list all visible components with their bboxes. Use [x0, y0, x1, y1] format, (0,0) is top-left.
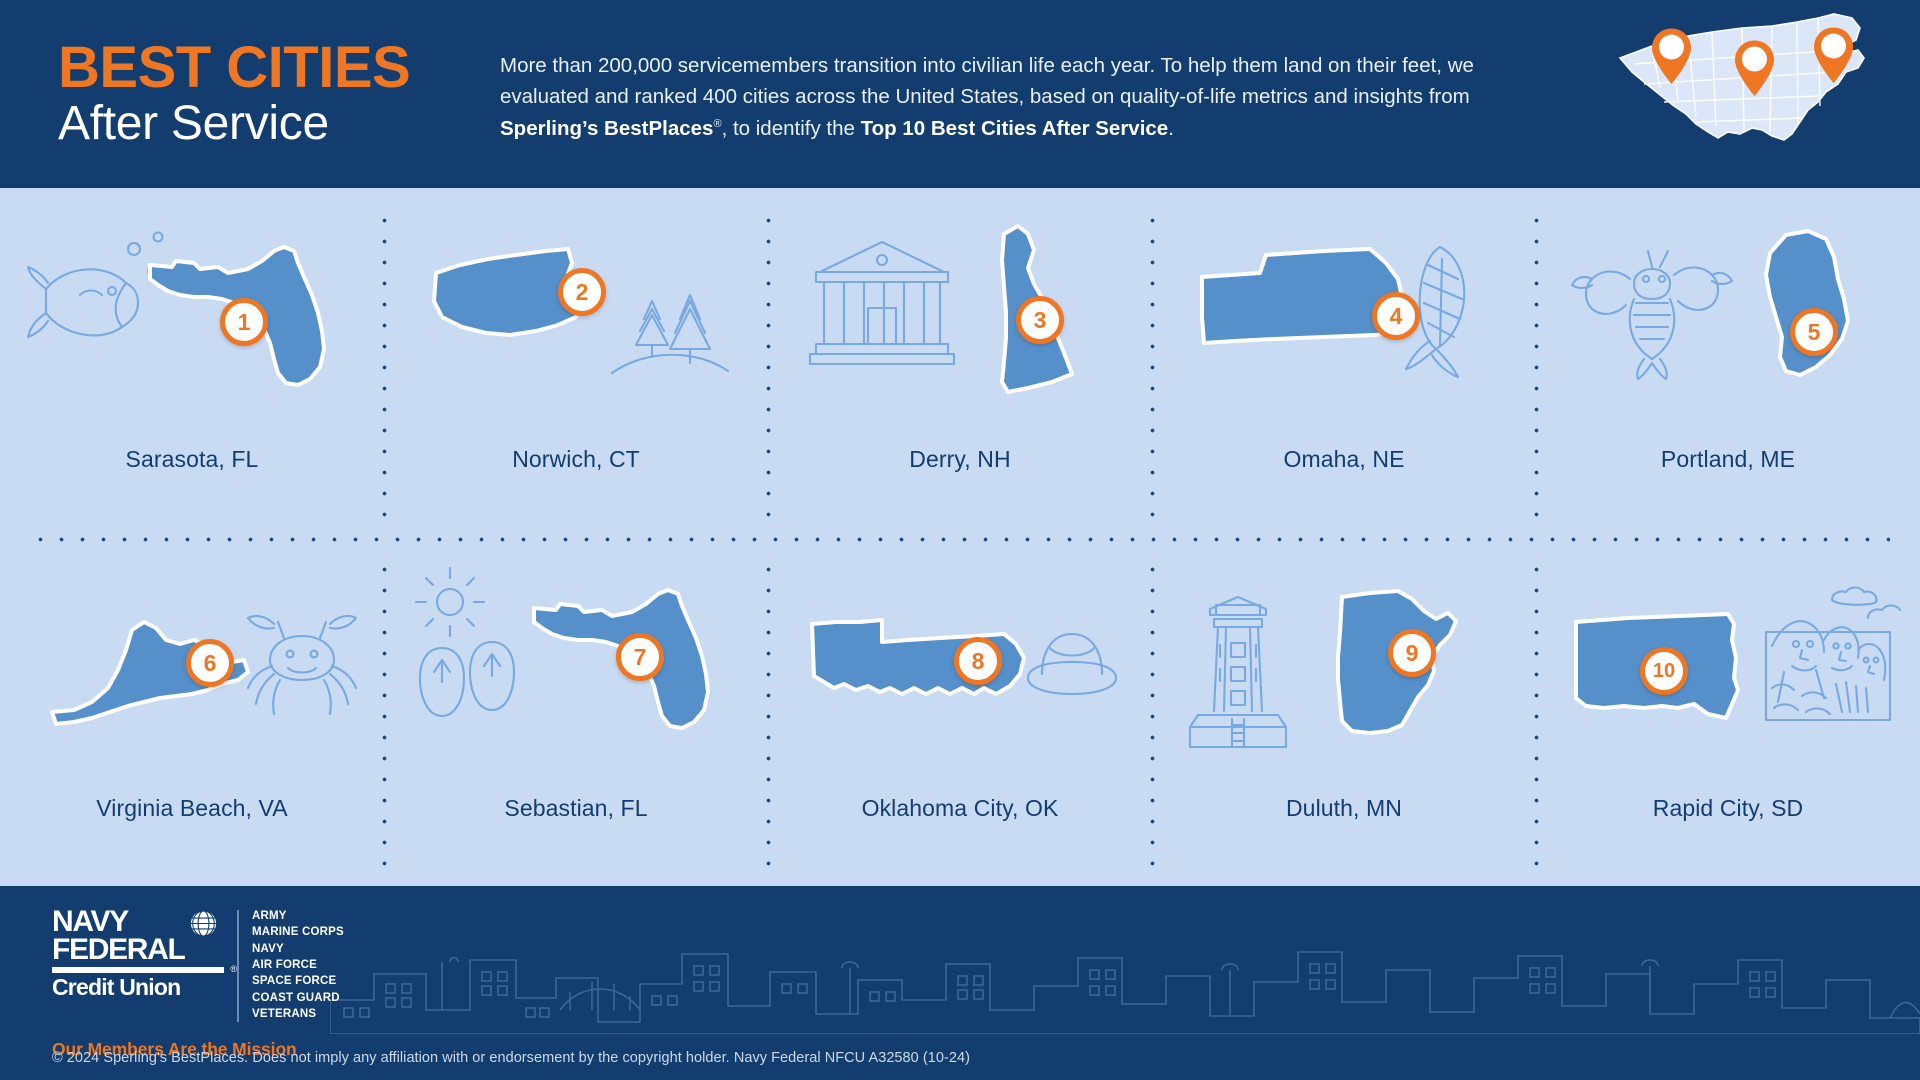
- logo-federal: FEDERAL: [52, 936, 185, 964]
- city-label-9: Duluth, MN: [1286, 795, 1402, 822]
- rank-number: 3: [1034, 307, 1047, 334]
- branch-item: ARMY: [252, 908, 344, 924]
- city-card-9[interactable]: 9 Duluth, MN: [1152, 537, 1536, 886]
- city-label-7: Sebastian, FL: [504, 795, 647, 822]
- navy-federal-logo-block: NAVY FEDERAL ®: [52, 908, 352, 1060]
- branch-item: COAST GUARD: [252, 990, 344, 1006]
- fish-icon: [28, 267, 138, 337]
- rank-badge-2: 2: [558, 268, 606, 316]
- mount-rushmore-icon: [1766, 588, 1900, 721]
- rank-number: 5: [1808, 319, 1821, 346]
- city-art-3: 3: [768, 188, 1152, 446]
- lighthouse-icon: [1190, 597, 1286, 747]
- city-art-7: 7: [384, 537, 768, 795]
- branch-item: AIR FORCE: [252, 957, 344, 973]
- courthouse-icon: [810, 242, 954, 364]
- intro-paragraph: More than 200,000 servicemembers transit…: [500, 44, 1560, 143]
- rank-number: 7: [634, 644, 647, 671]
- page-title-secondary: After Service: [58, 97, 500, 151]
- logo-credit-union: Credit Union: [52, 976, 224, 999]
- city-label-10: Rapid City, SD: [1653, 795, 1804, 822]
- city-art-2: 2: [384, 188, 768, 446]
- city-art-6: 6: [0, 537, 384, 795]
- header: BEST CITIES After Service More than 200,…: [0, 0, 1920, 188]
- rank-badge-7: 7: [616, 633, 664, 681]
- rank-number: 8: [972, 648, 985, 675]
- city-art-10: 10: [1536, 537, 1920, 795]
- rank-number: 2: [576, 279, 589, 306]
- logo-rule: ®: [52, 967, 224, 973]
- city-art-5: 5: [1536, 188, 1920, 446]
- city-art-9: 9: [1152, 537, 1536, 795]
- branch-item: MARINE CORPS: [252, 924, 344, 940]
- city-card-10[interactable]: 10 Rapid City, SD: [1536, 537, 1920, 886]
- city-card-4[interactable]: 4 Omaha, NE: [1152, 188, 1536, 537]
- city-label-3: Derry, NH: [909, 446, 1010, 473]
- logo-registered-mark: ®: [230, 964, 237, 974]
- city-label-1: Sarasota, FL: [126, 446, 259, 473]
- lobster-icon: [1572, 251, 1732, 379]
- rank-number: 1: [238, 309, 251, 336]
- branch-list: ARMY MARINE CORPS NAVY AIR FORCE SPACE F…: [252, 908, 344, 1022]
- title-block: BEST CITIES After Service: [0, 38, 500, 151]
- rank-number: 6: [204, 650, 217, 677]
- page-title-primary: BEST CITIES: [58, 38, 500, 97]
- pine-trees-icon: [612, 295, 728, 373]
- flip-flops-icon: [420, 642, 514, 716]
- city-card-3[interactable]: 3 Derry, NH: [768, 188, 1152, 537]
- registered-mark: ®: [713, 118, 721, 130]
- rank-number: 10: [1653, 660, 1675, 683]
- grid-separator-v6: [766, 559, 771, 874]
- branch-item: SPACE FORCE: [252, 973, 344, 989]
- grid-separator-v4: [1534, 210, 1539, 525]
- footer: NAVY FEDERAL ®: [0, 886, 1920, 1080]
- crab-icon: [248, 616, 356, 714]
- city-card-7[interactable]: 7 Sebastian, FL: [384, 537, 768, 886]
- city-label-6: Virginia Beach, VA: [96, 795, 287, 822]
- rank-number: 4: [1390, 303, 1403, 330]
- city-label-5: Portland, ME: [1661, 446, 1795, 473]
- city-label-4: Omaha, NE: [1283, 446, 1404, 473]
- cities-grid: 1 Sarasota, FL: [0, 188, 1920, 886]
- grid-separator-v7: [1150, 559, 1155, 874]
- copyright-text: © 2024 Sperling's BestPlaces. Does not i…: [52, 1050, 970, 1066]
- city-skyline-illustration: [330, 914, 1920, 1034]
- city-label-2: Norwich, CT: [512, 446, 640, 473]
- nebraska-state-shape: [1202, 249, 1404, 343]
- intro-text-3: .: [1168, 117, 1174, 140]
- us-map-with-pins-icon: [1612, 6, 1882, 176]
- grid-separator-v8: [1534, 559, 1539, 874]
- logo-navy: NAVY: [52, 908, 185, 936]
- rank-badge-6: 6: [186, 639, 234, 687]
- navy-federal-logo: NAVY FEDERAL ®: [52, 908, 224, 999]
- rank-badge-4: 4: [1372, 292, 1420, 340]
- city-label-8: Oklahoma City, OK: [862, 795, 1059, 822]
- grid-separator-v2: [766, 210, 771, 525]
- rank-badge-1: 1: [220, 298, 268, 346]
- rank-badge-10: 10: [1640, 647, 1688, 695]
- branch-item: NAVY: [252, 941, 344, 957]
- sun-icon: [416, 568, 484, 636]
- city-art-8: 8: [768, 537, 1152, 795]
- branch-item: VETERANS: [252, 1006, 344, 1022]
- cowboy-hat-icon: [1028, 634, 1116, 694]
- intro-bold-top10: Top 10 Best Cities After Service: [861, 117, 1169, 140]
- city-card-8[interactable]: 8 Oklahoma City, OK: [768, 537, 1152, 886]
- grid-separator-v5: [382, 559, 387, 874]
- infographic-page: BEST CITIES After Service More than 200,…: [0, 0, 1920, 1080]
- grid-separator-v1: [382, 210, 387, 525]
- rank-badge-3: 3: [1016, 296, 1064, 344]
- globe-icon: [190, 910, 217, 937]
- rank-badge-5: 5: [1790, 308, 1838, 356]
- city-card-6[interactable]: 6 Virginia Beach, VA: [0, 537, 384, 886]
- city-card-1[interactable]: 1 Sarasota, FL: [0, 188, 384, 537]
- rank-badge-8: 8: [954, 637, 1002, 685]
- intro-text-2: , to identify the: [722, 117, 861, 140]
- city-card-2[interactable]: 2 Norwich, CT: [384, 188, 768, 537]
- logo-divider: [237, 910, 239, 1022]
- rank-badge-9: 9: [1388, 629, 1436, 677]
- city-card-5[interactable]: 5 Portland, ME: [1536, 188, 1920, 537]
- cities-row-1: 1 Sarasota, FL: [0, 188, 1920, 537]
- grid-separator-v3: [1150, 210, 1155, 525]
- intro-bold-sperlings: Sperling’s BestPlaces: [500, 117, 713, 140]
- city-art-1: 1: [0, 188, 384, 446]
- intro-text-1: More than 200,000 servicemembers transit…: [500, 54, 1474, 108]
- city-art-4: 4: [1152, 188, 1536, 446]
- cities-row-2: 6 Virginia Beach, VA: [0, 537, 1920, 886]
- rank-number: 9: [1406, 640, 1419, 667]
